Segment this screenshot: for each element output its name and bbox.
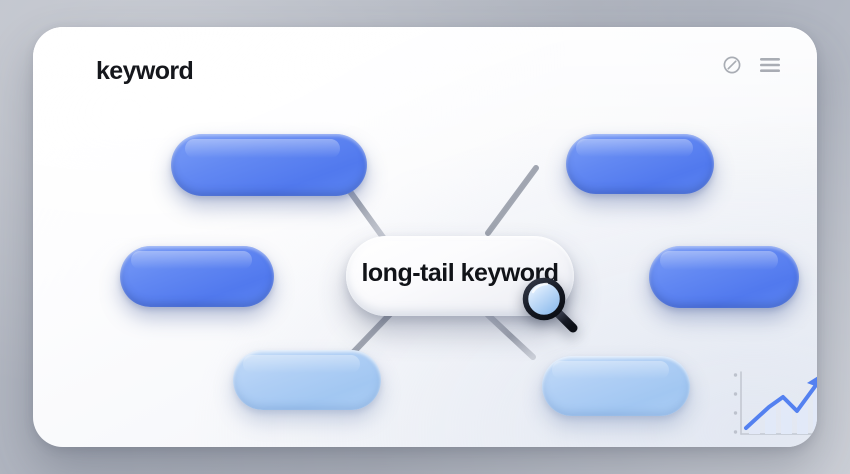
node-surface	[171, 134, 367, 196]
screenshot-stage: keyword	[0, 0, 850, 474]
node-surface	[120, 246, 274, 307]
mindmap-node-bottom-right[interactable]	[542, 356, 690, 416]
header-icon-group	[722, 55, 781, 80]
mindmap-node-bottom-left[interactable]	[233, 350, 381, 410]
node-surface	[649, 246, 799, 308]
mindmap-node-middle-right[interactable]	[649, 246, 799, 308]
block-circle-icon[interactable]	[722, 55, 742, 80]
mindmap-node-middle-left[interactable]	[120, 246, 274, 307]
chart-y-ticks	[734, 373, 737, 433]
app-card: keyword	[33, 27, 817, 447]
mindmap: long-tail keyword	[33, 27, 817, 447]
brand-logo: keyword	[96, 57, 193, 86]
node-surface	[542, 356, 690, 416]
magnifier-icon[interactable]	[520, 275, 582, 337]
growth-chart	[727, 366, 817, 444]
node-surface	[233, 350, 381, 410]
node-surface	[566, 134, 714, 194]
mindmap-node-top-right[interactable]	[566, 134, 714, 194]
mindmap-node-top-left[interactable]	[171, 134, 367, 196]
hamburger-menu-icon[interactable]	[759, 56, 781, 79]
